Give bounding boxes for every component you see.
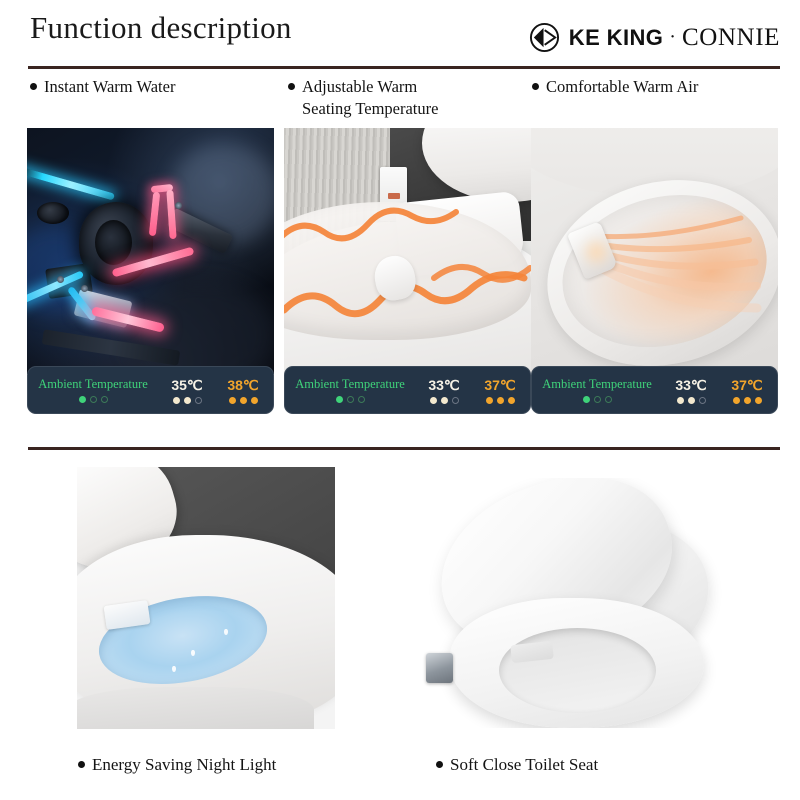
feature-label: Instant Warm Water: [44, 77, 175, 96]
bullet-icon: [532, 83, 539, 90]
bullet-icon: [436, 761, 443, 768]
ambient-level-dots: [336, 396, 365, 403]
ambient-temperature-label: Ambient Temperature: [295, 377, 405, 392]
brand-name-serif: CONNIE: [682, 24, 780, 52]
temperature-indicator-bar: Ambient Temperature 33℃ 37℃: [531, 366, 778, 414]
feature-caption-adjustable-warm-seating: Adjustable Warm Seating Temperature: [288, 76, 438, 120]
temperature-indicator-bar: Ambient Temperature 35℃ 38℃: [27, 366, 274, 414]
mid-level-dots: [430, 397, 459, 404]
hot-temperature-cell: 37℃: [719, 377, 775, 404]
mid-temperature-cell: 35℃: [159, 377, 215, 404]
soft-close-seat-product-image: [420, 478, 722, 728]
heated-seat-coil-image: [284, 128, 531, 374]
heating-coil-icon: [284, 128, 531, 374]
ambient-temperature-cell: Ambient Temperature: [27, 377, 159, 403]
temperature-indicator-bar: Ambient Temperature 33℃ 37℃: [284, 366, 531, 414]
mid-level-dots: [173, 397, 202, 404]
feature-label: Energy Saving Night Light: [92, 755, 276, 774]
instant-water-heater-mechanism-image: [27, 128, 274, 374]
feature-caption-energy-saving-night-light: Energy Saving Night Light: [78, 754, 276, 776]
bullet-icon: [30, 83, 37, 90]
mid-temperature-cell: 33℃: [416, 377, 472, 404]
feature-panel-comfortable-warm-air: Ambient Temperature 33℃ 37℃: [531, 128, 778, 414]
ambient-level-dots: [79, 396, 108, 403]
feature-label-line2: Seating Temperature: [302, 98, 438, 120]
bullet-icon: [78, 761, 85, 768]
page-header: Function description KE KING · CONNIE: [28, 8, 780, 68]
mid-temperature-value: 35℃: [171, 377, 202, 393]
feature-panel-adjustable-warm-seating: Ambient Temperature 33℃ 37℃: [284, 128, 531, 414]
page-title: Function description: [30, 10, 292, 46]
feature-label: Comfortable Warm Air: [546, 77, 698, 96]
header-divider: [28, 66, 780, 69]
keking-logo-icon: [529, 22, 560, 53]
feature-caption-comfortable-warm-air: Comfortable Warm Air: [532, 76, 698, 98]
hot-temperature-cell: 38℃: [215, 377, 271, 404]
feature-panel-instant-warm-water: Ambient Temperature 35℃ 38℃: [27, 128, 274, 414]
mid-temperature-value: 33℃: [675, 377, 706, 393]
seat-hinge: [426, 653, 453, 683]
mid-level-dots: [677, 397, 706, 404]
ambient-temperature-cell: Ambient Temperature: [531, 377, 663, 403]
mid-temperature-value: 33℃: [428, 377, 459, 393]
hot-temperature-value: 37℃: [484, 377, 515, 393]
hot-temperature-value: 37℃: [731, 377, 762, 393]
product-feature-page: Function description KE KING · CONNIE In…: [0, 0, 800, 800]
section-divider: [28, 447, 780, 450]
night-light-blue-bowl-image: [77, 467, 335, 729]
hot-level-dots: [486, 397, 515, 404]
ambient-temperature-label: Ambient Temperature: [38, 377, 148, 392]
brand-text: KE KING · CONNIE: [569, 24, 780, 52]
feature-caption-soft-close-toilet-seat: Soft Close Toilet Seat: [436, 754, 598, 776]
feature-label: Adjustable Warm: [302, 77, 417, 96]
hot-temperature-cell: 37℃: [472, 377, 528, 404]
hot-level-dots: [229, 397, 258, 404]
warm-air-stream-icon: [531, 128, 778, 374]
mid-temperature-cell: 33℃: [663, 377, 719, 404]
hot-level-dots: [733, 397, 762, 404]
brand-name-sans: KE KING: [569, 25, 663, 51]
bullet-icon: [288, 83, 295, 90]
ambient-level-dots: [583, 396, 612, 403]
ambient-temperature-cell: Ambient Temperature: [284, 377, 416, 403]
hot-temperature-value: 38℃: [227, 377, 258, 393]
ambient-temperature-label: Ambient Temperature: [542, 377, 652, 392]
warm-air-dryer-bowl-image: [531, 128, 778, 374]
feature-caption-instant-warm-water: Instant Warm Water: [30, 76, 175, 98]
brand-separator: ·: [669, 27, 676, 47]
brand-lockup: KE KING · CONNIE: [529, 22, 780, 53]
feature-label: Soft Close Toilet Seat: [450, 755, 598, 774]
